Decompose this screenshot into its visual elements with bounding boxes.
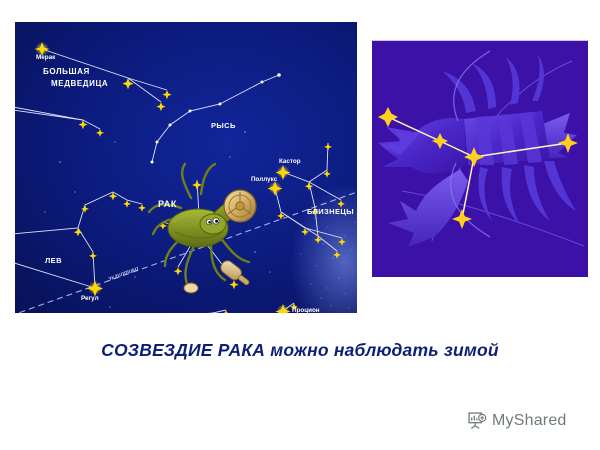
cancer-crab-panel xyxy=(372,40,588,277)
star-chart-svg xyxy=(15,22,357,313)
myshared-logo-text: MyShared xyxy=(492,412,567,430)
crab-silhouette xyxy=(378,51,577,247)
crab-panel-svg xyxy=(372,41,588,277)
cancer-mascot-illustration xyxy=(149,164,256,293)
slide-canvas: Мерак БОЛЬШАЯ МЕДВЕДИЦА РЫСЬ РАК БЛИЗНЕЦ… xyxy=(0,0,600,450)
myshared-logo[interactable]: MyShared xyxy=(466,410,567,431)
milky-way-band xyxy=(290,184,357,313)
presentation-board-icon xyxy=(466,410,487,431)
star-chart-image: Мерак БОЛЬШАЯ МЕДВЕДИЦА РЫСЬ РАК БЛИЗНЕЦ… xyxy=(15,22,357,313)
slide-caption: СОЗВЕЗДИЕ РАКА можно наблюдать зимой xyxy=(0,340,600,361)
